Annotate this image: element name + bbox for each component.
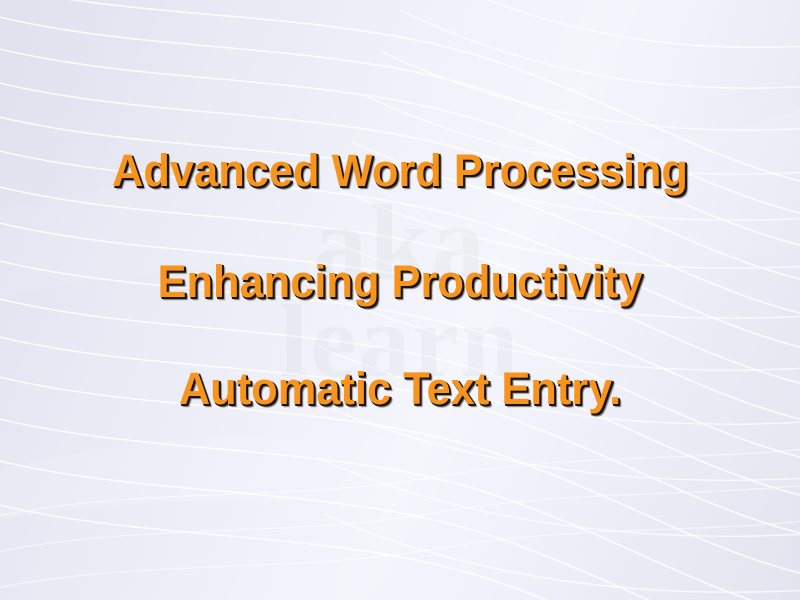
slide-title-line-2: Enhancing Productivity: [14, 259, 786, 304]
slide-text-block: Advanced Word Processing Enhancing Produ…: [0, 148, 800, 411]
wave-lines-family-c: [0, 442, 800, 596]
slide-title-line-1: Advanced Word Processing: [14, 148, 786, 193]
presentation-slide: aka learn Advanced Word Processing Enhan…: [0, 0, 800, 600]
slide-title-line-3: Automatic Text Entry.: [14, 366, 786, 411]
